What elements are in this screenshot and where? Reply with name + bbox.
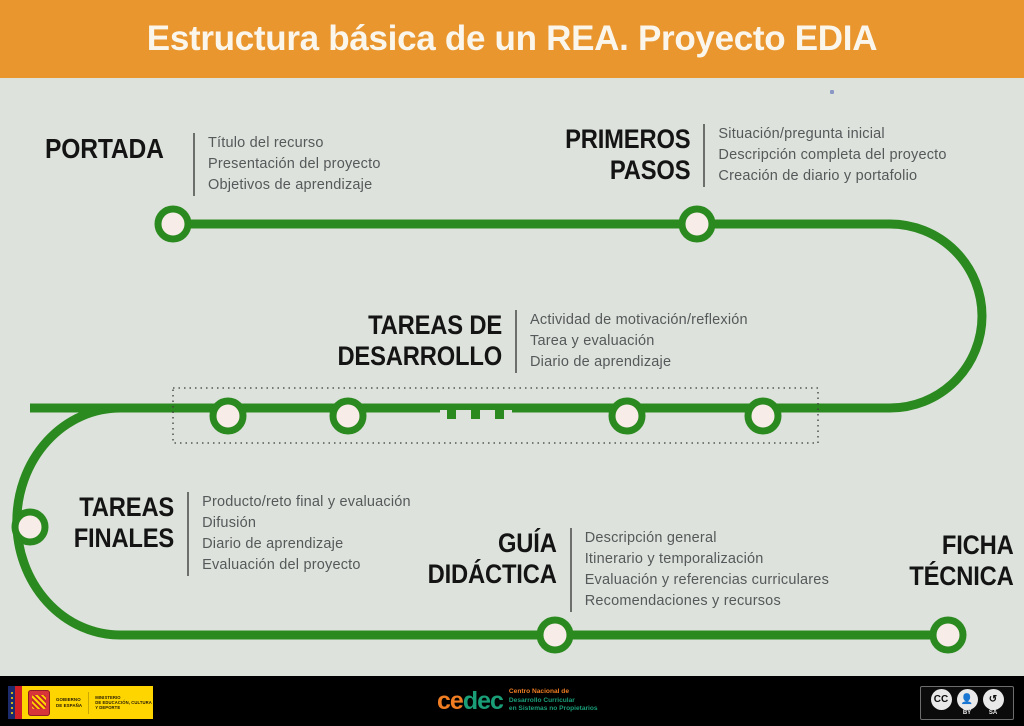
heading-line: TÉCNICA	[909, 561, 1013, 592]
gobierno-line-2: DE ESPAÑA	[56, 703, 82, 708]
section-portada-divider	[193, 133, 195, 196]
heading-line: GUÍA	[428, 528, 557, 559]
cedec-tagline-line-2: Desarrollo Curricular	[509, 697, 598, 705]
node-guia-didactica[interactable]	[540, 620, 570, 650]
section-tareas-desarrollo: TAREAS DE DESARROLLO Actividad de motiva…	[315, 310, 748, 373]
section-tareas-desarrollo-heading: TAREAS DE DESARROLLO	[337, 310, 502, 372]
detail-line: Actividad de motivación/reflexión	[530, 310, 748, 331]
detail-line: Presentación del proyecto	[208, 154, 381, 175]
cedec-logo: cedec Centro Nacional de Desarrollo Curr…	[437, 684, 598, 718]
heading-line: FICHA	[909, 530, 1013, 561]
section-guia-didactica: GUÍA DIDÁCTICA Descripción general Itine…	[410, 528, 829, 612]
section-guia-didactica-details: Descripción general Itinerario y tempora…	[585, 528, 829, 612]
eu-stars	[9, 690, 14, 715]
section-portada-heading: PORTADA	[45, 133, 164, 164]
detail-line: Diario de aprendizaje	[202, 534, 411, 555]
ellipsis-dot-3b	[495, 410, 504, 419]
ellipsis-dot-2b	[471, 410, 480, 419]
heading-line: DESARROLLO	[337, 341, 502, 372]
node-desarrollo-1[interactable]	[213, 401, 243, 431]
section-portada-details: Título del recurso Presentación del proy…	[208, 133, 381, 196]
eu-flag-strip-icon	[8, 686, 22, 719]
section-primeros-pasos-heading: PRIMEROS PASOS	[565, 124, 690, 186]
detail-line: Recomendaciones y recursos	[585, 591, 829, 612]
section-tareas-finales-heading: TAREAS FINALES	[74, 492, 174, 554]
cc-icon: CC	[931, 689, 952, 710]
section-guia-didactica-divider	[570, 528, 572, 612]
heading-line: TAREAS DE	[337, 310, 502, 341]
node-portada[interactable]	[158, 209, 188, 239]
section-tareas-finales-details: Producto/reto final y evaluación Difusió…	[202, 492, 411, 576]
page-title: Estructura básica de un REA. Proyecto ED…	[147, 19, 877, 59]
detail-line: Itinerario y temporalización	[585, 549, 829, 570]
cc-mark: CC	[931, 689, 952, 717]
section-tareas-finales-divider	[187, 492, 189, 576]
spain-coat-of-arms-icon	[28, 690, 50, 716]
share-alike-icon: ↺	[983, 689, 1004, 710]
detail-line: Diario de aprendizaje	[530, 352, 748, 373]
detail-line: Evaluación y referencias curriculares	[585, 570, 829, 591]
node-desarrollo-3[interactable]	[612, 401, 642, 431]
cc-by: 👤 BY	[957, 689, 978, 717]
heading-line: PRIMEROS	[565, 124, 690, 155]
section-tareas-desarrollo-details: Actividad de motivación/reflexión Tarea …	[530, 310, 748, 373]
section-ficha-tecnica-heading: FICHA TÉCNICA	[909, 530, 1013, 592]
ministerio-label: MINISTERIO DE EDUCACIÓN, CULTURA Y DEPOR…	[95, 695, 152, 711]
heading-line: PASOS	[565, 155, 690, 186]
gobierno-line-1: GOBIERNO	[56, 697, 82, 702]
cedec-tagline: Centro Nacional de Desarrollo Curricular…	[509, 688, 598, 713]
node-desarrollo-4[interactable]	[748, 401, 778, 431]
heading-line: TAREAS	[74, 492, 174, 523]
detail-line: Descripción general	[585, 528, 829, 549]
logo-divider	[88, 692, 89, 714]
node-desarrollo-2[interactable]	[333, 401, 363, 431]
heading-line: DIDÁCTICA	[428, 559, 557, 590]
section-ficha-tecnica: FICHA TÉCNICA	[895, 530, 1014, 592]
detail-line: Producto/reto final y evaluación	[202, 492, 411, 513]
cedec-tagline-line-1: Centro Nacional de	[509, 688, 598, 696]
detail-line: Evaluación del proyecto	[202, 555, 411, 576]
ministerio-line-3: Y DEPORTE	[95, 705, 152, 710]
ellipsis-dot-1b	[447, 410, 456, 419]
detail-line: Objetivos de aprendizaje	[208, 175, 381, 196]
node-ficha-tecnica[interactable]	[933, 620, 963, 650]
cc-sa: ↺ SA	[983, 689, 1004, 717]
infographic-page: Estructura básica de un REA. Proyecto ED…	[0, 0, 1024, 726]
cedec-word-part1: ce	[437, 687, 463, 715]
detail-line: Tarea y evaluación	[530, 331, 748, 352]
section-tareas-finales: TAREAS FINALES Producto/reto final y eva…	[60, 492, 411, 576]
detail-line: Título del recurso	[208, 133, 381, 154]
gobierno-de-espana-logo: GOBIERNO DE ESPAÑA MINISTERIO DE EDUCACI…	[8, 686, 153, 719]
detail-line: Creación de diario y portafolio	[718, 166, 946, 187]
section-primeros-pasos-details: Situación/pregunta inicial Descripción c…	[718, 124, 946, 187]
cedec-word-part2: dec	[463, 687, 503, 715]
detail-line: Situación/pregunta inicial	[718, 124, 946, 145]
title-banner: Estructura básica de un REA. Proyecto ED…	[0, 0, 1024, 78]
cedec-wordmark: cedec	[437, 687, 503, 716]
node-primeros-pasos[interactable]	[682, 209, 712, 239]
section-tareas-desarrollo-divider	[515, 310, 517, 373]
heading-line: FINALES	[74, 523, 174, 554]
detail-line: Descripción completa del proyecto	[718, 145, 946, 166]
section-primeros-pasos: PRIMEROS PASOS Situación/pregunta inicia…	[548, 124, 947, 187]
section-portada: PORTADA Título del recurso Presentación …	[45, 133, 381, 196]
cc-sa-label: SA	[989, 710, 997, 717]
cc-by-label: BY	[963, 710, 971, 717]
cedec-tagline-line-3: en Sistemas no Propietarios	[509, 705, 598, 713]
node-tareas-finales[interactable]	[15, 512, 45, 542]
section-guia-didactica-heading: GUÍA DIDÁCTICA	[428, 528, 557, 590]
gobierno-label: GOBIERNO DE ESPAÑA	[56, 697, 82, 708]
creative-commons-license-badge[interactable]: CC 👤 BY ↺ SA	[920, 686, 1014, 720]
detail-line: Difusión	[202, 513, 411, 534]
person-icon: 👤	[957, 689, 978, 710]
section-primeros-pasos-divider	[703, 124, 705, 187]
